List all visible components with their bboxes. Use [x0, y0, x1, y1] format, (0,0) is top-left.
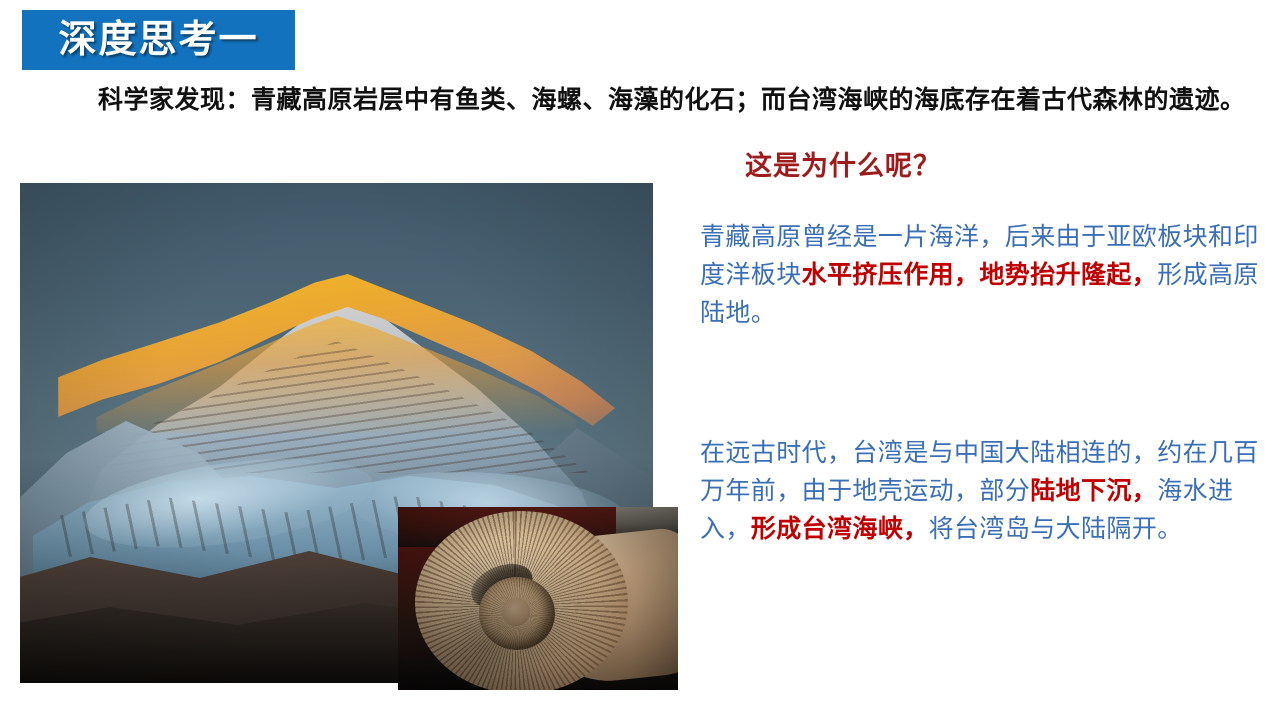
banner-title-text: 深度思考一	[58, 21, 258, 59]
explanation-paragraph-2: 在远古时代，台湾是与中国大陆相连的，约在几百万年前，由于地壳运动，部分陆地下沉，…	[700, 434, 1270, 548]
highlighted-text-segment: 陆地下沉，	[1030, 477, 1157, 505]
title-banner: 深度思考一	[22, 10, 295, 70]
fossil-vignette	[398, 507, 678, 690]
highlighted-text-segment: 形成台湾海峡，	[751, 515, 929, 543]
intro-paragraph: 科学家发现：青藏高原岩层中有鱼类、海螺、海藻的化石；而台湾海峡的海底存在着古代森…	[48, 84, 1248, 117]
text-segment: 将台湾岛与大陆隔开。	[929, 515, 1183, 543]
fossil-photo	[398, 507, 678, 690]
explanation-paragraph-1: 青藏高原曾经是一片海洋，后来由于亚欧板块和印度洋板块水平挤压作用，地势抬升隆起，…	[700, 218, 1270, 332]
highlighted-text-segment: 水平挤压作用，地势抬升隆起，	[802, 261, 1158, 289]
question-text: 这是为什么呢？	[745, 144, 941, 183]
